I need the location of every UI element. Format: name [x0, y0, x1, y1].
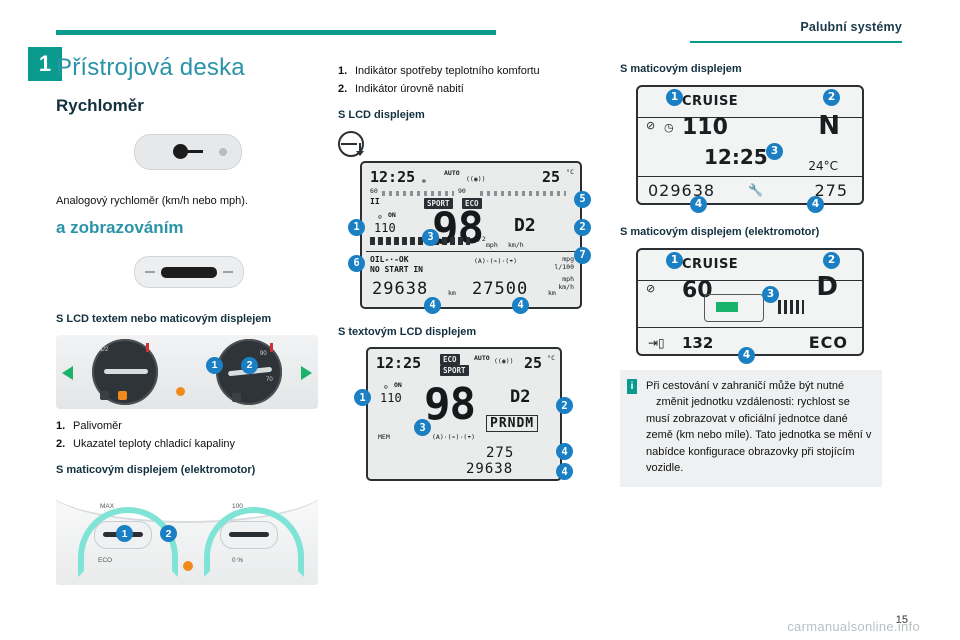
subheading-matrix: S maticovým displejem — [620, 62, 882, 77]
matrix-cruise-label: CRUISE — [682, 94, 738, 109]
lcd-on: ON — [388, 211, 396, 219]
textlcd-odometer: 29638 — [466, 461, 513, 477]
fuel-needle-icon — [104, 369, 148, 374]
manual-page: Palubní systémy 1 15 carmanualsonline.in… — [0, 0, 960, 640]
lcd-kmh-small: km/h — [558, 283, 574, 291]
turn-signal-left-icon — [62, 366, 73, 380]
subheading-matrix-electro: S maticovým displejem (elektromotor) — [620, 225, 882, 240]
callout-2: 2 — [823, 89, 840, 106]
callout-3: 3 — [414, 419, 431, 436]
down-arrow-icon — [356, 151, 364, 156]
textlcd-clock: 12:25 — [376, 354, 421, 372]
wheel-bar-icon — [161, 267, 217, 278]
battery-bargraph-icon — [778, 300, 804, 314]
list-text: Indikátor úrovně nabití — [355, 83, 464, 95]
wheel-tick-left-icon — [145, 271, 155, 273]
analog-gauge-graphic — [134, 134, 242, 170]
note-line-6: vozidle. — [646, 462, 683, 474]
lcd-fuel-scale — [480, 191, 566, 196]
textlcd-sport-chip: SPORT — [440, 365, 469, 376]
subheading-lcd: S LCD displejem — [338, 108, 600, 123]
note-line-3: musí zobrazovat v oficiální jednotce dan… — [646, 413, 848, 425]
lcd-wiper-icon: ((◉)) — [466, 175, 486, 183]
callout-3: 3 — [766, 143, 783, 160]
lcd-bar-label: II — [370, 197, 380, 206]
header-title: Palubní systémy — [800, 20, 902, 34]
note-line-4: země (km nebo míle). Tato jednotka se mě… — [646, 429, 863, 441]
matrix-gear: N — [818, 111, 840, 141]
dial-label: 90 — [260, 351, 267, 357]
lcd-temp-scale — [382, 191, 454, 196]
callout-7: 7 — [574, 247, 591, 264]
energy-flow-icon — [716, 302, 738, 312]
steering-hub-shape — [341, 143, 357, 146]
red-marker-icon — [146, 343, 149, 352]
label-eco: ECO — [98, 557, 112, 564]
wheel-tick-right-icon — [223, 271, 233, 273]
column-middle: 1.Indikátor spotřeby teplotního komfortu… — [338, 54, 600, 491]
figure-electro-dash: MAX 100 ECO 0 % 1 2 — [56, 485, 318, 585]
textlcd-temperature: 25 — [524, 354, 542, 372]
dial-label: 70 — [266, 377, 273, 383]
callout-5: 5 — [574, 191, 591, 208]
textlcd-mem: MEM — [378, 433, 390, 441]
lcd-speed-unit-mph: mph — [486, 241, 498, 249]
figure-matrix-display-1: CRUISE ⊘ ◷ 110 N 12:25 24°C 029638 🔧 275… — [620, 85, 882, 205]
lcd-speed-unit-kmh: km/h — [508, 241, 524, 249]
textlcd-cruise-value: 110 — [380, 391, 402, 405]
label-max: MAX — [100, 503, 114, 510]
textlcd-cruise-icon: ⊙ — [384, 383, 388, 391]
note-line-1: Při cestování v zahraničí může být nutné — [646, 380, 844, 392]
lcd-cruise-icon: ⊙ — [378, 213, 382, 221]
lcd-scale-right: 90 — [458, 187, 466, 195]
callout-3: 3 — [762, 286, 779, 303]
watermark: carmanualsonline.info — [787, 619, 920, 634]
info-note: i Při cestování v zahraničí může být nut… — [620, 370, 882, 487]
textlcd-trip: 275 — [486, 445, 514, 461]
list-number: 2. — [56, 437, 65, 452]
list-text: Indikátor spotřeby teplotního komfortu — [355, 65, 540, 77]
callout-2: 2 — [241, 357, 258, 374]
list-text: Ukazatel teploty chladicí kapaliny — [73, 438, 235, 450]
figure-twin-dials: 1/2 90 70 1 2 — [56, 335, 318, 409]
warning-icon — [118, 391, 127, 400]
steering-wheel-icon — [338, 131, 368, 157]
column-right: S maticovým displejem CRUISE ⊘ ◷ 110 N 1… — [620, 54, 882, 487]
info-icon: i — [627, 379, 637, 394]
lcd-fuel-bargraph — [370, 237, 470, 245]
section-speedometer: Rychloměr — [56, 96, 318, 116]
coolant-icon — [232, 393, 241, 402]
electro-dash-graphic: MAX 100 ECO 0 % 1 2 — [56, 485, 318, 585]
lcd-odometer: 29638 — [372, 279, 428, 299]
callout-2: 2 — [574, 219, 591, 236]
lcd-cruise-value: 110 — [374, 221, 396, 235]
needle-icon — [185, 150, 203, 153]
callout-4: 4 — [738, 347, 755, 364]
matrix-speed: 110 — [682, 115, 728, 140]
list-item: 1.Palivoměr — [56, 419, 318, 434]
turn-signal-right-icon — [301, 366, 312, 380]
matrix2-eco: ECO — [809, 333, 848, 352]
matrix-temperature: 24°C — [808, 159, 838, 173]
textlcd-eco-chip: ECO — [440, 354, 460, 365]
lcd-clock: 12:25 — [370, 168, 415, 186]
lcd-service-icons: (A)·(⌁)·(☂) — [474, 257, 517, 265]
indicator-lamp-icon — [176, 387, 185, 396]
list-number: 1. — [338, 64, 347, 79]
header-underline — [690, 41, 902, 43]
lcd-mph-small: mph — [562, 275, 574, 283]
lcd-odometer-unit: km — [448, 289, 456, 297]
right-display-oval — [220, 521, 278, 549]
cruise-symbol-icon: ⊘ — [646, 282, 655, 295]
textlcd-gear: D2 — [510, 387, 530, 407]
clock-symbol-icon: ◷ — [664, 121, 674, 134]
textlcd-auto: AUTO — [474, 354, 490, 362]
figure-text-lcd: 12:25 ECO SPORT AUTO ((◉)) 25 °C ⊙ ON 11… — [338, 347, 600, 481]
label-100: 100 — [232, 503, 243, 510]
lcd-display-graphic: 12:25 AUTO ✻ ((◉)) 25 °C 60 90 II SPORT … — [360, 161, 582, 309]
column-left: Přístrojová deska Rychloměr Analogový ry… — [56, 54, 318, 595]
callout-1: 1 — [206, 357, 223, 374]
analog-caption: Analogový rychloměr (km/h nebo mph). — [56, 194, 318, 210]
figure-matrix-display-2: CRUISE ⊘ 60 D ⇥▯ 132 ECO 1 2 3 4 — [620, 248, 882, 356]
note-line-2: změnit jednotku vzdálenosti: rychlost se — [646, 394, 872, 411]
subheading-display: a zobrazováním — [56, 218, 318, 238]
textlcd-service-icons: (A)·(⌁)·(☂) — [432, 433, 475, 441]
page-title: Přístrojová deska — [56, 54, 318, 82]
lcd-auto: AUTO — [444, 169, 460, 177]
text-lcd-graphic: 12:25 ECO SPORT AUTO ((◉)) 25 °C ⊙ ON 11… — [366, 347, 562, 481]
subheading-matrix-electro-left: S maticovým displejem (elektromotor) — [56, 463, 318, 478]
callout-4b: 4 — [512, 297, 529, 314]
dial-cluster-graphic: 1/2 90 70 1 2 — [56, 335, 318, 409]
lcd-l100-label: l/100 — [554, 263, 574, 271]
callout-4b: 4 — [556, 463, 573, 480]
lcd-no-start: NO START IN — [370, 265, 423, 274]
matrix-clock: 12:25 — [704, 145, 768, 169]
callout-4: 4 — [556, 443, 573, 460]
fuel-pump-icon — [100, 391, 109, 400]
red-marker-icon — [270, 343, 273, 352]
callout-4b: 4 — [807, 196, 824, 213]
callout-1: 1 — [666, 252, 683, 269]
list-item: 2.Indikátor úrovně nabití — [338, 82, 600, 97]
list-electro-indicators: 1.Indikátor spotřeby teplotního komfortu… — [338, 64, 600, 98]
lcd-trip: 27500 — [472, 279, 528, 299]
indicator-lamp-icon — [183, 561, 193, 571]
textlcd-speed: 98 — [424, 383, 475, 427]
list-item: 1.Indikátor spotřeby teplotního komfortu — [338, 64, 600, 79]
figure-lcd-display: 12:25 AUTO ✻ ((◉)) 25 °C 60 90 II SPORT … — [338, 161, 600, 309]
lcd-temperature: 25 — [542, 168, 560, 186]
subheading-text-lcd: S textovým LCD displejem — [338, 325, 600, 340]
cruise-symbol-icon: ⊘ — [646, 119, 655, 132]
lcd-separator — [366, 251, 576, 252]
dial-label: 1/2 — [100, 347, 108, 353]
callout-2: 2 — [556, 397, 573, 414]
callout-4: 4 — [690, 196, 707, 213]
lcd-gear: D2 — [514, 215, 536, 236]
matrix2-gear: D — [816, 272, 838, 302]
wheel-display-graphic — [134, 256, 244, 288]
callout-1: 1 — [666, 89, 683, 106]
figure-wheel-display — [56, 246, 318, 302]
matrix2-range: 132 — [682, 334, 713, 352]
textlcd-wiper-icon: ((◉)) — [494, 357, 514, 365]
list-text: Palivoměr — [73, 420, 122, 432]
textlcd-on: ON — [394, 381, 402, 389]
textlcd-temperature-unit: °C — [547, 354, 555, 362]
callout-4: 4 — [424, 297, 441, 314]
right-needle-icon — [229, 532, 269, 537]
lcd-half-label: 1/2 — [474, 235, 486, 243]
list-item: 2.Ukazatel teploty chladicí kapaliny — [56, 437, 318, 452]
textlcd-gearbox: PRNDM — [486, 415, 538, 432]
gauge-right-dot-icon — [219, 148, 227, 156]
lcd-mpg-label: mpg — [562, 255, 574, 263]
matrix-display-1-graphic: CRUISE ⊘ ◷ 110 N 12:25 24°C 029638 🔧 275… — [636, 85, 864, 205]
callout-6: 6 — [348, 255, 365, 272]
lcd-snowflake-icon: ✻ — [422, 177, 426, 185]
list-number: 1. — [56, 419, 65, 434]
list-number: 2. — [338, 82, 347, 97]
wrench-icon: 🔧 — [748, 183, 763, 197]
lcd-trip-unit: km — [548, 289, 556, 297]
lcd-scale-left: 60 — [370, 187, 378, 195]
lcd-temperature-unit: °C — [566, 168, 574, 176]
header-rule — [56, 30, 496, 35]
matrix-display-2-graphic: CRUISE ⊘ 60 D ⇥▯ 132 ECO 1 2 3 4 — [636, 248, 864, 356]
callout-2: 2 — [823, 252, 840, 269]
callout-3: 3 — [422, 229, 439, 246]
callout-1: 1 — [348, 219, 365, 236]
matrix2-cruise-label: CRUISE — [682, 257, 738, 272]
figure-analog-speedometer — [56, 126, 318, 184]
label-zero: 0 % — [232, 557, 243, 564]
callout-1: 1 — [354, 389, 371, 406]
lcd-oil-status: OIL-·-OK — [370, 255, 409, 264]
battery-plug-icon: ⇥▯ — [648, 336, 665, 350]
matrix-odometer: 029638 — [648, 181, 715, 200]
list-fuel-temp: 1.Palivoměr 2.Ukazatel teploty chladicí … — [56, 419, 318, 453]
subheading-lcd-or-matrix: S LCD textem nebo maticovým displejem — [56, 312, 318, 327]
